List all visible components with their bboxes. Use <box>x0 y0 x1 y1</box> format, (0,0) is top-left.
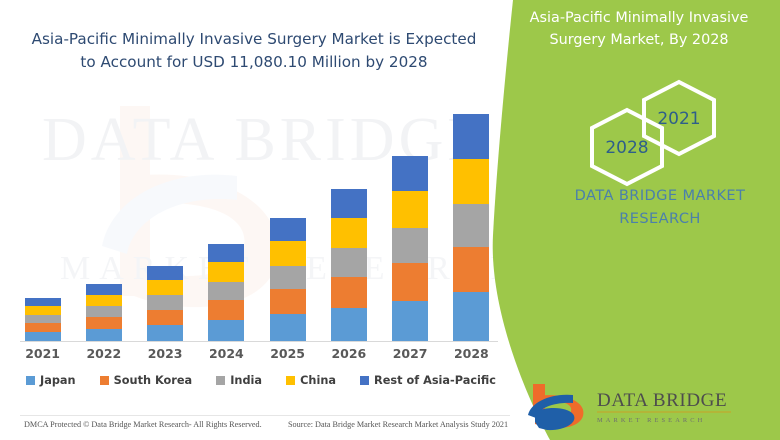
legend-item[interactable]: China <box>286 374 336 387</box>
bar-slot-2023 <box>135 92 196 341</box>
logo-mark-icon <box>528 384 583 430</box>
bar-segment[interactable] <box>208 300 244 320</box>
legend-item[interactable]: South Korea <box>100 374 193 387</box>
stacked-bar[interactable] <box>208 244 244 341</box>
page-title: Asia-Pacific Minimally Invasive Surgery … <box>30 28 478 74</box>
bar-group <box>12 92 502 341</box>
footer: DMCA Protected © Data Bridge Market Rese… <box>0 420 530 440</box>
legend-label: Japan <box>40 374 76 387</box>
bar-slot-2026 <box>318 92 379 341</box>
chart-infographic: DATA BRIDGE MARKET RESEARCH Asia-Pacific… <box>0 0 780 440</box>
legend-swatch-icon <box>100 376 109 385</box>
bar-segment[interactable] <box>270 289 306 314</box>
bar-segment[interactable] <box>331 189 367 218</box>
bar-slot-2021 <box>12 92 73 341</box>
bar-segment[interactable] <box>331 308 367 341</box>
x-axis-label-2023: 2023 <box>135 346 196 361</box>
x-axis-label-2021: 2021 <box>12 346 73 361</box>
green-panel-heading: Asia-Pacific Minimally Invasive Surgery … <box>510 8 768 51</box>
hexagon-left-label: 2028 <box>605 138 648 158</box>
legend-label: India <box>230 374 262 387</box>
bar-segment[interactable] <box>86 329 122 341</box>
stacked-bar[interactable] <box>25 298 61 341</box>
bar-segment[interactable] <box>86 306 122 317</box>
stacked-bar[interactable] <box>331 189 367 341</box>
legend-swatch-icon <box>360 376 369 385</box>
legend-swatch-icon <box>286 376 295 385</box>
bar-segment[interactable] <box>331 248 367 277</box>
bar-segment[interactable] <box>25 315 61 323</box>
stacked-bar-chart <box>12 92 502 342</box>
stacked-bar[interactable] <box>86 284 122 341</box>
bar-segment[interactable] <box>270 218 306 241</box>
bar-segment[interactable] <box>392 228 428 263</box>
bar-segment[interactable] <box>208 262 244 281</box>
bar-slot-2022 <box>73 92 134 341</box>
bar-segment[interactable] <box>25 298 61 306</box>
bar-segment[interactable] <box>86 317 122 328</box>
bar-segment[interactable] <box>25 332 61 341</box>
bar-segment[interactable] <box>392 156 428 191</box>
brand-line-1: DATA BRIDGE MARKET <box>560 185 760 208</box>
footer-source: Source: Data Bridge Market Research Mark… <box>288 420 508 429</box>
green-panel-brand: DATA BRIDGE MARKET RESEARCH <box>560 185 760 230</box>
bar-segment[interactable] <box>86 284 122 295</box>
company-logo: DATA BRIDGE MARKET RESEARCH <box>525 382 755 432</box>
bar-segment[interactable] <box>147 310 183 325</box>
x-axis-label-2022: 2022 <box>73 346 134 361</box>
stacked-bar[interactable] <box>392 156 428 341</box>
bar-segment[interactable] <box>331 277 367 308</box>
legend-label: Rest of Asia-Pacific <box>374 374 496 387</box>
bar-segment[interactable] <box>25 306 61 315</box>
x-axis-labels: 20212022202320242025202620272028 <box>12 346 502 361</box>
bar-segment[interactable] <box>270 314 306 341</box>
bar-segment[interactable] <box>147 280 183 295</box>
legend-swatch-icon <box>216 376 225 385</box>
footer-divider <box>20 415 510 416</box>
bar-segment[interactable] <box>147 295 183 309</box>
x-axis-label-2027: 2027 <box>380 346 441 361</box>
bar-slot-2027 <box>380 92 441 341</box>
hexagon-right-label: 2021 <box>657 109 700 129</box>
bar-segment[interactable] <box>392 263 428 300</box>
bar-segment[interactable] <box>25 323 61 332</box>
bar-segment[interactable] <box>86 295 122 306</box>
x-axis-line <box>20 341 498 342</box>
legend-item[interactable]: Rest of Asia-Pacific <box>360 374 496 387</box>
bar-slot-2024 <box>196 92 257 341</box>
hexagon-2021-icon: 2021 <box>644 82 714 154</box>
footer-copyright: DMCA Protected © Data Bridge Market Rese… <box>24 420 262 429</box>
brand-line-2: RESEARCH <box>560 208 760 231</box>
green-side-panel: Asia-Pacific Minimally Invasive Surgery … <box>480 0 780 440</box>
legend-label: China <box>300 374 336 387</box>
legend-item[interactable]: India <box>216 374 262 387</box>
bar-segment[interactable] <box>392 191 428 228</box>
x-axis-label-2026: 2026 <box>318 346 379 361</box>
x-axis-label-2025: 2025 <box>257 346 318 361</box>
bar-segment[interactable] <box>208 320 244 341</box>
bar-segment[interactable] <box>331 218 367 248</box>
bar-segment[interactable] <box>208 282 244 301</box>
hexagon-2028-icon: 2028 <box>592 110 662 184</box>
x-axis-label-2024: 2024 <box>196 346 257 361</box>
bar-segment[interactable] <box>270 266 306 290</box>
bar-segment[interactable] <box>147 325 183 341</box>
bar-segment[interactable] <box>147 266 183 280</box>
stacked-bar[interactable] <box>147 266 183 341</box>
chart-legend: JapanSouth KoreaIndiaChinaRest of Asia-P… <box>26 374 496 387</box>
logo-subtitle: MARKET RESEARCH <box>597 417 705 424</box>
logo-name: DATA BRIDGE <box>597 390 727 411</box>
bar-segment[interactable] <box>392 301 428 341</box>
bar-segment[interactable] <box>208 244 244 262</box>
stacked-bar[interactable] <box>270 218 306 341</box>
bar-segment[interactable] <box>270 241 306 266</box>
legend-item[interactable]: Japan <box>26 374 76 387</box>
legend-label: South Korea <box>114 374 193 387</box>
bar-slot-2025 <box>257 92 318 341</box>
legend-swatch-icon <box>26 376 35 385</box>
hexagon-group: 2021 2028 <box>575 78 735 193</box>
